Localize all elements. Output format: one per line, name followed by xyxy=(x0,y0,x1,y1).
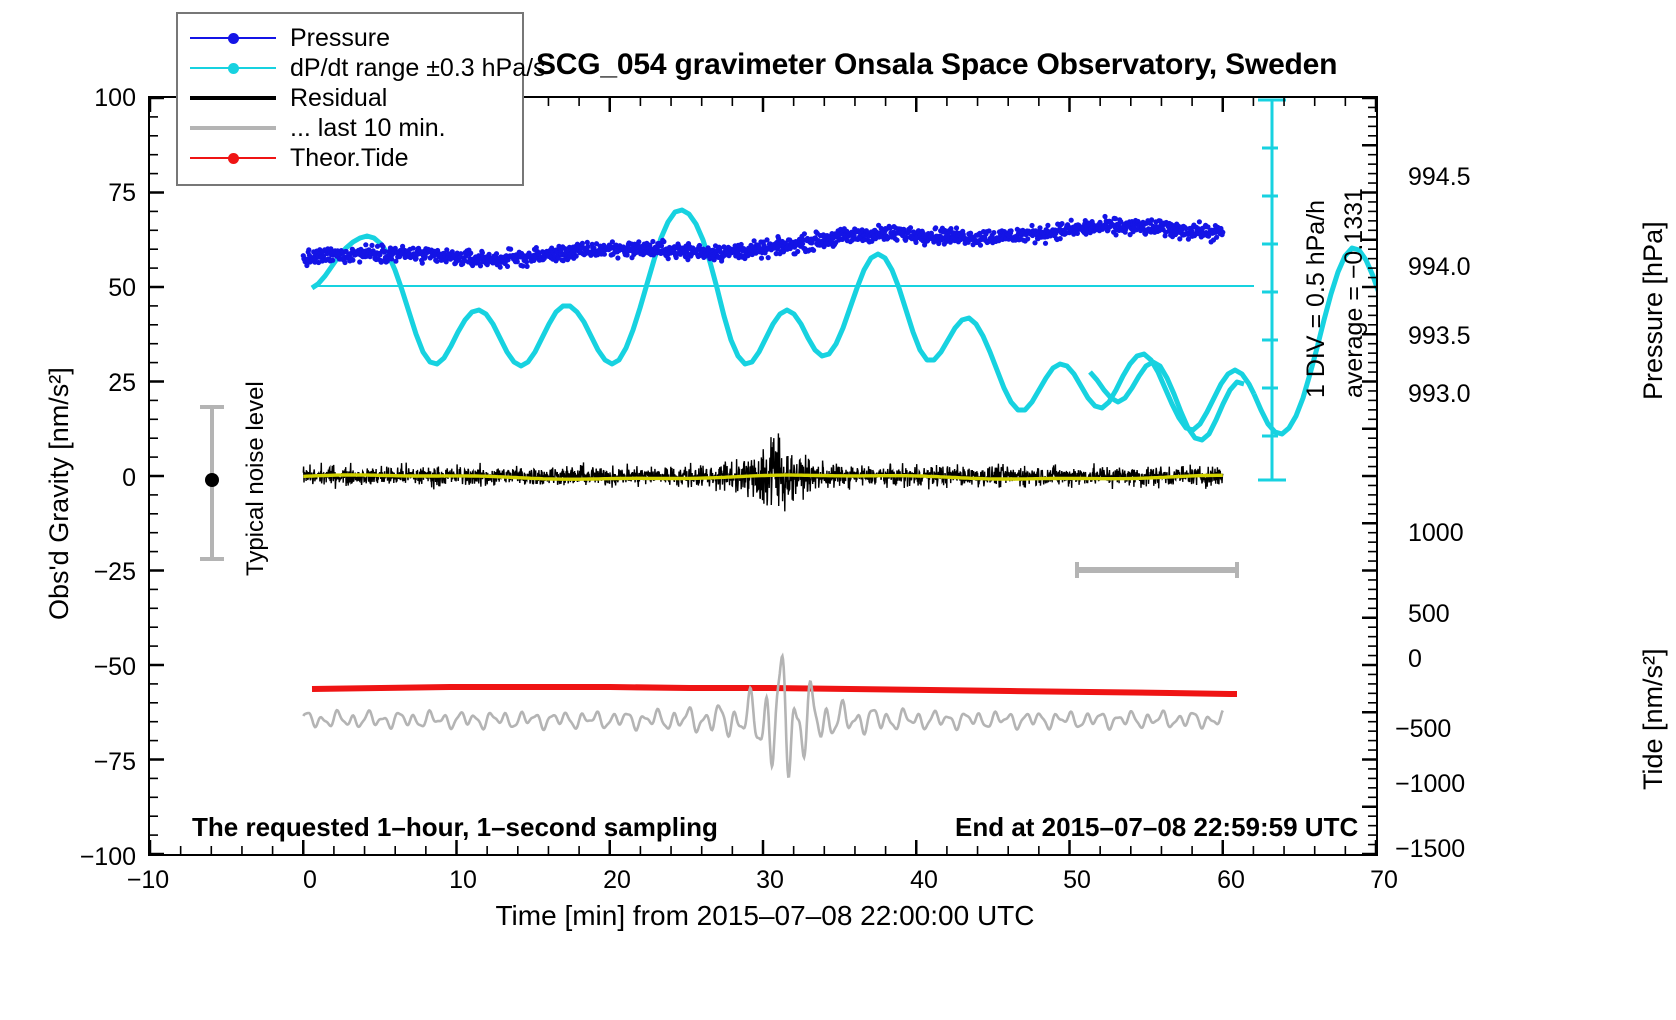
y-axis-right-tide-title: Tide [nm/s²] xyxy=(1638,648,1669,790)
legend-label: dP/dt range ±0.3 hPa/s xyxy=(290,54,546,83)
dpdt-average-label: average = −0.1331 xyxy=(1340,188,1369,398)
tide-tick-label: 0 xyxy=(1408,645,1422,674)
legend-label: ... last 10 min. xyxy=(290,114,446,143)
y-tick-label: 0 xyxy=(52,464,136,493)
legend-swatch-residual xyxy=(190,88,276,108)
tide-tick-label: −1500 xyxy=(1395,835,1465,864)
y-tick-label: 100 xyxy=(52,84,136,113)
legend: Pressure dP/dt range ±0.3 hPa/s Residual… xyxy=(176,12,524,186)
y-tick-label: 25 xyxy=(52,369,136,398)
x-tick-label: −10 xyxy=(108,866,188,895)
legend-label: Residual xyxy=(290,84,387,113)
tide-tick-label: 1000 xyxy=(1408,519,1464,548)
y-axis-right-pressure-title: Pressure [hPa] xyxy=(1638,221,1669,400)
noise-level-label: Typical noise level xyxy=(242,381,270,576)
dpdt-division-label: 1 DIV = 0.5 hPa/h xyxy=(1302,200,1331,398)
y-tick-label: 75 xyxy=(52,179,136,208)
x-tick-label: 60 xyxy=(1191,866,1271,895)
legend-label: Theor.Tide xyxy=(290,144,409,173)
tide-tick-label: 500 xyxy=(1408,600,1450,629)
legend-swatch-pressure xyxy=(190,28,276,48)
x-tick-label: 40 xyxy=(884,866,964,895)
x-tick-label: 0 xyxy=(270,866,350,895)
x-tick-label: 50 xyxy=(1037,866,1117,895)
legend-item-residual[interactable]: Residual xyxy=(190,83,510,113)
y-tick-label: 50 xyxy=(52,274,136,303)
tide-tick-label: −1000 xyxy=(1395,770,1465,799)
y-tick-label: −75 xyxy=(52,748,136,777)
x-tick-label: 20 xyxy=(577,866,657,895)
legend-item-pressure[interactable]: Pressure xyxy=(190,23,510,53)
pressure-tick-label: 994.0 xyxy=(1408,253,1471,282)
legend-swatch-last10 xyxy=(190,118,276,138)
y-tick-label: −25 xyxy=(52,558,136,587)
tide-tick-label: −500 xyxy=(1395,715,1451,744)
caption-sampling: The requested 1–hour, 1–second sampling xyxy=(192,812,718,843)
x-tick-label: 30 xyxy=(730,866,810,895)
x-tick-label: 70 xyxy=(1344,866,1424,895)
caption-end-time: End at 2015–07–08 22:59:59 UTC xyxy=(955,812,1358,843)
legend-item-theor-tide[interactable]: Theor.Tide xyxy=(190,143,510,173)
legend-swatch-theor-tide xyxy=(190,148,276,168)
legend-item-last10[interactable]: ... last 10 min. xyxy=(190,113,510,143)
chart-title: SCG_054 gravimeter Onsala Space Observat… xyxy=(536,48,1337,82)
legend-item-dpdt[interactable]: dP/dt range ±0.3 hPa/s xyxy=(190,53,510,83)
pressure-tick-label: 993.5 xyxy=(1408,322,1471,351)
pressure-tick-label: 994.5 xyxy=(1408,163,1471,192)
chart-canvas: SCG_054 gravimeter Onsala Space Observat… xyxy=(0,0,1676,1020)
plot-area: 1 DIV = 0.5 hPa/h average = −0.1331 Typi… xyxy=(148,96,1378,856)
x-axis-title: Time [min] from 2015–07–08 22:00:00 UTC xyxy=(0,900,1530,932)
legend-swatch-dpdt xyxy=(190,58,276,78)
y-tick-label: −50 xyxy=(52,653,136,682)
legend-label: Pressure xyxy=(290,24,390,53)
x-tick-label: 10 xyxy=(423,866,503,895)
axis-ticks xyxy=(150,98,1376,854)
pressure-tick-label: 993.0 xyxy=(1408,380,1471,409)
